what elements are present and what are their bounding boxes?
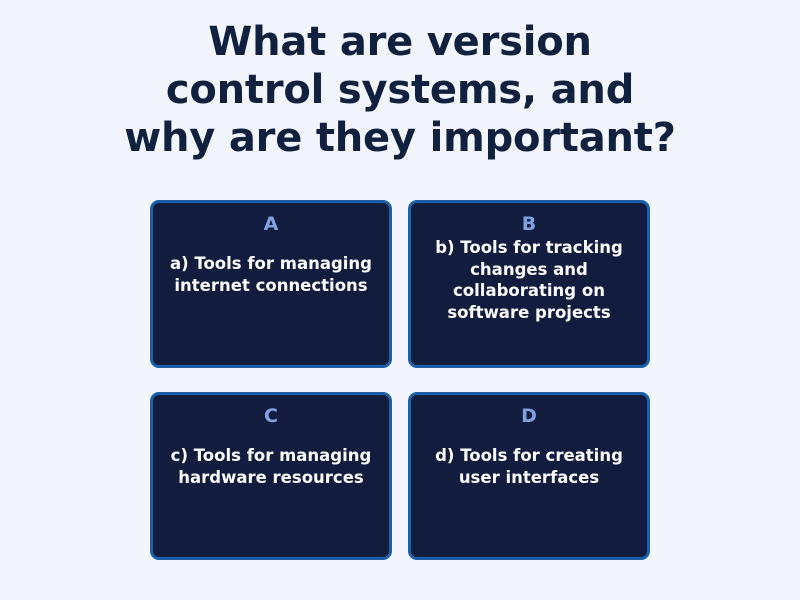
answer-letter-c: C bbox=[165, 405, 377, 427]
answer-body-a: a) Tools for managing internet connectio… bbox=[165, 235, 377, 353]
answer-letter-b: B bbox=[423, 213, 635, 235]
quiz-slide: What are version control systems, and wh… bbox=[0, 0, 800, 600]
answer-text-b: b) Tools for tracking changes and collab… bbox=[423, 237, 635, 323]
answer-option-d[interactable]: D d) Tools for creating user interfaces bbox=[408, 392, 650, 560]
answer-letter-d: D bbox=[423, 405, 635, 427]
answer-body-b: b) Tools for tracking changes and collab… bbox=[423, 235, 635, 353]
answer-text-d: d) Tools for creating user interfaces bbox=[423, 445, 635, 488]
answer-body-d: d) Tools for creating user interfaces bbox=[423, 427, 635, 545]
answer-option-a[interactable]: A a) Tools for managing internet connect… bbox=[150, 200, 392, 368]
answer-body-c: c) Tools for managing hardware resources bbox=[165, 427, 377, 545]
answer-letter-a: A bbox=[165, 213, 377, 235]
answer-option-c[interactable]: C c) Tools for managing hardware resourc… bbox=[150, 392, 392, 560]
answer-text-c: c) Tools for managing hardware resources bbox=[165, 445, 377, 488]
answer-option-b[interactable]: B b) Tools for tracking changes and coll… bbox=[408, 200, 650, 368]
question-title: What are version control systems, and wh… bbox=[100, 18, 700, 162]
answer-options-grid: A a) Tools for managing internet connect… bbox=[150, 200, 650, 560]
answer-text-a: a) Tools for managing internet connectio… bbox=[165, 253, 377, 296]
